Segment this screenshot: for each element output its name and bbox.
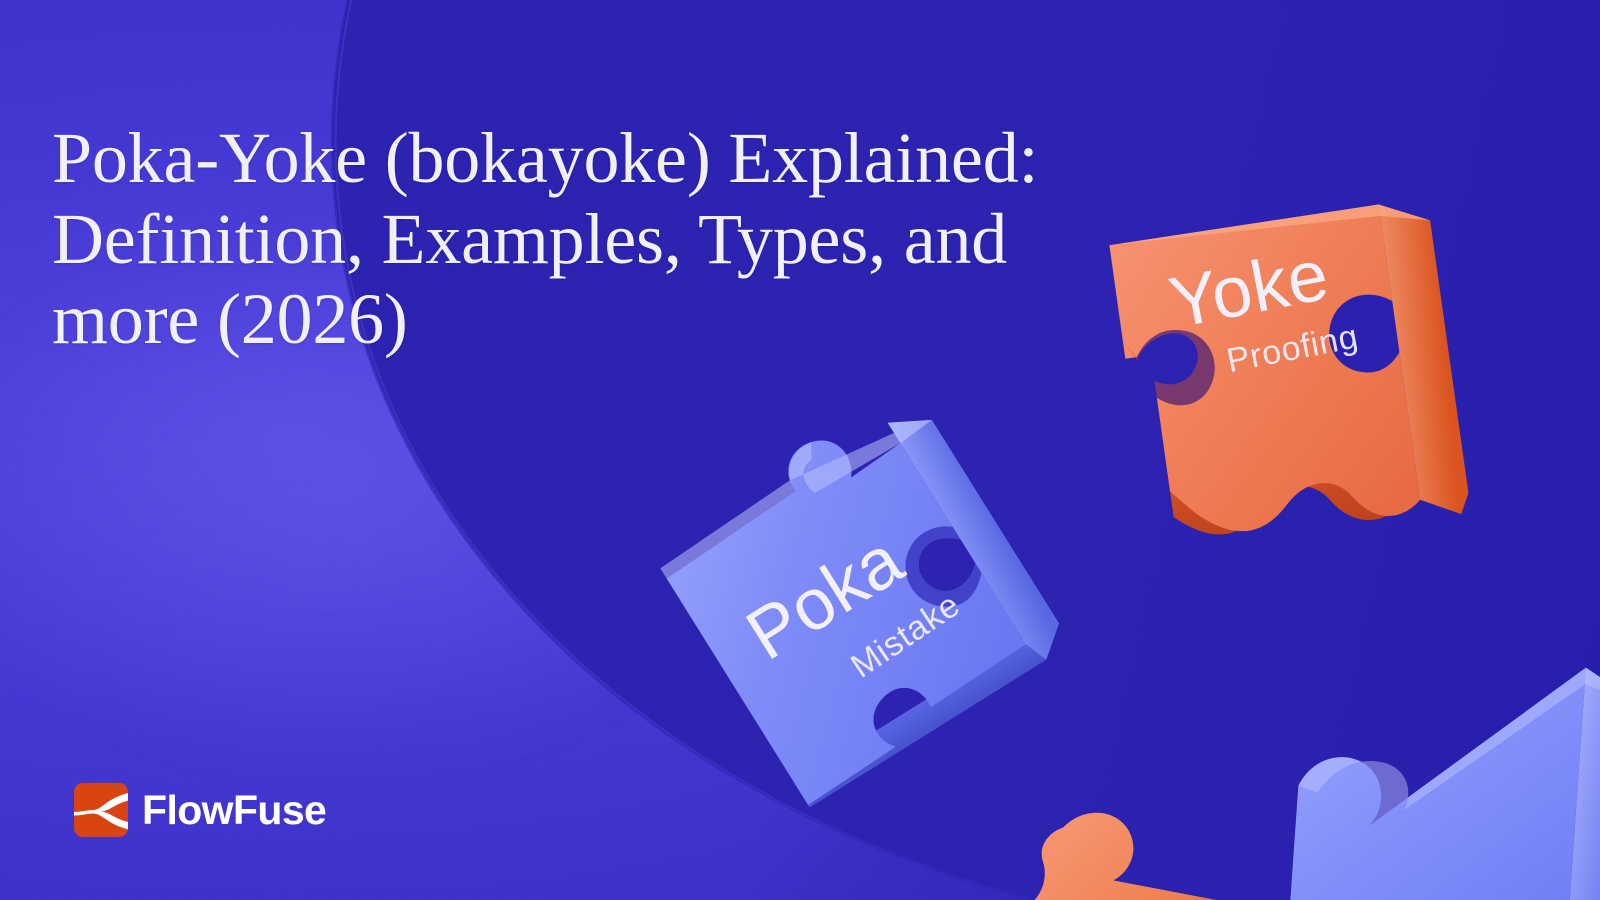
flowfuse-fuse-mark-icon — [74, 783, 128, 837]
hero-banner: Yoke Proofing — [0, 0, 1600, 900]
puzzle-piece-yoke-shape — [1072, 147, 1558, 633]
puzzle-piece-yoke: Yoke Proofing — [1072, 147, 1558, 633]
flowfuse-wordmark: FlowFuse — [142, 790, 326, 831]
page-title: Poka-Yoke (bokayoke) Explained: Definiti… — [52, 118, 1112, 360]
fuse-branch-icon — [74, 783, 128, 837]
flowfuse-logo[interactable]: FlowFuse — [74, 783, 326, 837]
